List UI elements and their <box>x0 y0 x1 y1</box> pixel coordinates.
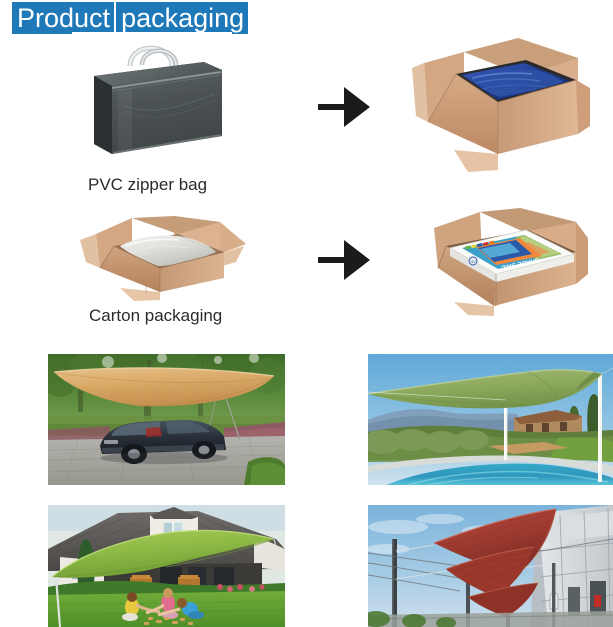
text-caret <box>114 2 116 34</box>
svg-text:UV: UV <box>471 260 477 264</box>
pvc-zipper-bag-photo <box>72 32 232 172</box>
carton-with-blue-fabric-photo <box>406 30 596 180</box>
arrow-right-icon <box>316 83 372 131</box>
backyard-green-triangle-shade-sail-photo <box>48 505 285 627</box>
carport-sand-shade-sail-photo <box>48 354 285 485</box>
pvc-zipper-bag-caption: PVC zipper bag <box>88 175 207 195</box>
carton-packaging-caption: Carton packaging <box>89 306 222 326</box>
carton-with-retail-box-photo: SHADE SAIL UV <box>424 202 592 320</box>
carton-with-white-package-photo <box>74 212 250 304</box>
page-title-word-2: packaging <box>116 2 248 34</box>
arrow-right-icon <box>316 236 372 284</box>
poolside-green-shade-sail-photo <box>368 354 613 485</box>
page-title-word-1: Product <box>12 2 114 34</box>
page-title: Product packaging <box>12 2 248 34</box>
multiple-terracotta-shade-sails-photo <box>368 505 613 627</box>
